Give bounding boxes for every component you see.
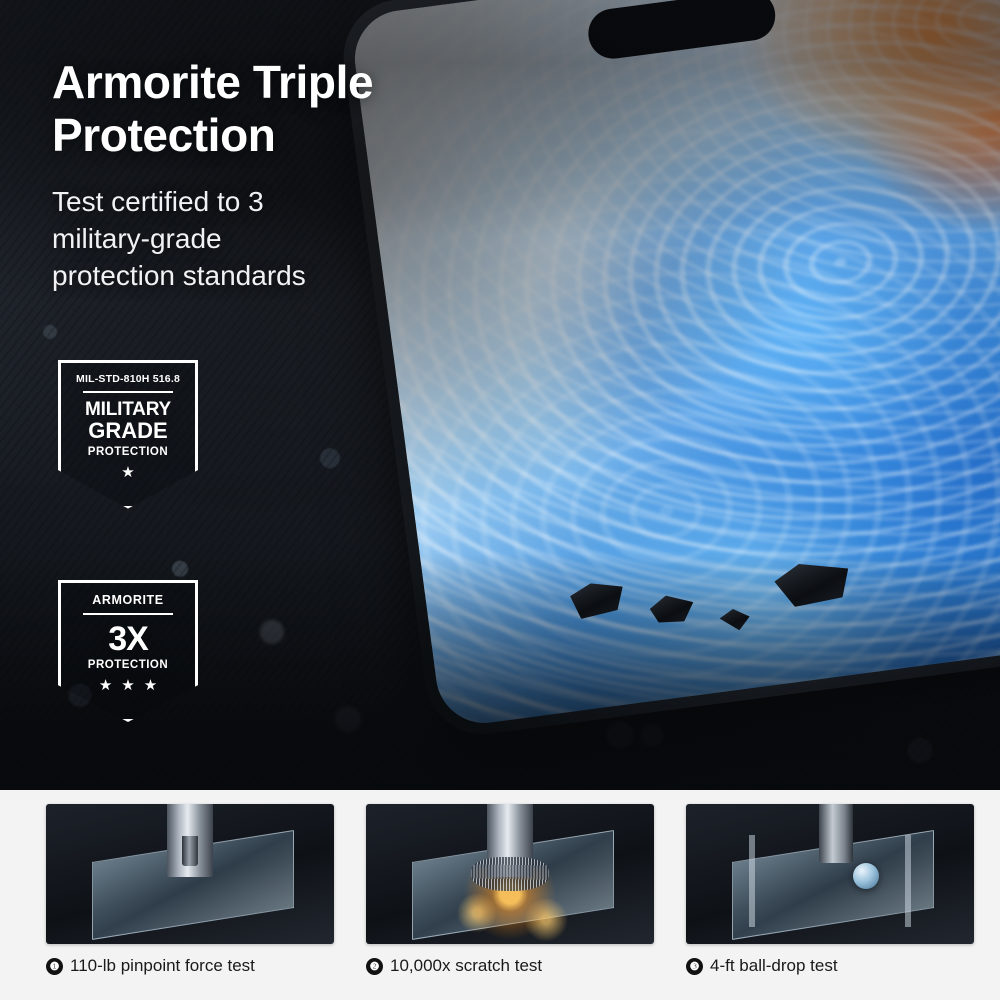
badge-star-row: ★ ★ ★	[69, 678, 187, 693]
hero-title: Armorite Triple Protection	[52, 56, 482, 163]
ball-drop-icon	[686, 804, 974, 944]
hero-subtitle-line-2: military-grade	[52, 220, 482, 257]
mil-line-1: MILITARY	[69, 400, 187, 420]
test-caption-text: 110-lb pinpoint force test	[70, 956, 255, 976]
star-icon: ★	[121, 465, 134, 480]
test-caption: ❷ 10,000x scratch test	[366, 956, 654, 976]
shield-icon: MIL-STD-810H 516.8 MILITARY GRADE PROTEC…	[58, 360, 198, 509]
product-feature-image: Armorite Triple Protection Test certifie…	[0, 0, 1000, 1000]
badge-star-row: ★	[69, 465, 187, 480]
mil-line-2: GRADE	[69, 420, 187, 443]
test-caption-text: 10,000x scratch test	[390, 956, 542, 976]
test-caption-text: 4-ft ball-drop test	[710, 956, 838, 976]
armorite-brand-text: ARMORITE	[69, 593, 187, 607]
armorite-label: PROTECTION	[69, 659, 187, 671]
test-card: ❸ 4-ft ball-drop test	[686, 804, 974, 976]
steel-ball	[853, 863, 879, 889]
badge-divider	[83, 391, 173, 393]
probe-tip	[182, 836, 198, 866]
test-caption: ❸ 4-ft ball-drop test	[686, 956, 974, 976]
mil-line-3: PROTECTION	[69, 446, 187, 458]
star-icon: ★	[144, 678, 157, 693]
hero-title-line-2: Protection	[52, 109, 482, 162]
armorite-multiplier: 3X	[69, 622, 187, 656]
shield-icon: ARMORITE 3X PROTECTION ★ ★ ★	[58, 580, 198, 722]
hero-subtitle-line-3: protection standards	[52, 257, 482, 294]
test-card-list: ❶ 110-lb pinpoint force test ❷ 10,000x s…	[46, 804, 974, 976]
military-grade-badge: MIL-STD-810H 516.8 MILITARY GRADE PROTEC…	[58, 360, 198, 509]
test-card: ❶ 110-lb pinpoint force test	[46, 804, 334, 976]
test-caption: ❶ 110-lb pinpoint force test	[46, 956, 334, 976]
hero-title-line-1: Armorite Triple	[52, 56, 482, 109]
test-strip: ❶ 110-lb pinpoint force test ❷ 10,000x s…	[0, 790, 1000, 1000]
probe-head	[167, 804, 213, 877]
test-card: ❷ 10,000x scratch test	[366, 804, 654, 976]
drop-tube	[819, 804, 853, 863]
hero-subtitle-line-1: Test certified to 3	[52, 183, 482, 220]
armorite-3x-badge: ARMORITE 3X PROTECTION ★ ★ ★	[58, 580, 198, 722]
test-number-badge: ❷	[366, 958, 383, 975]
badge-divider	[83, 613, 173, 615]
pinpoint-force-icon	[46, 804, 334, 944]
mil-standard-text: MIL-STD-810H 516.8	[69, 373, 187, 385]
scratch-brush-icon	[366, 804, 654, 944]
wire-brush	[471, 857, 549, 891]
hero-subtitle: Test certified to 3 military-grade prote…	[52, 183, 482, 295]
star-icon: ★	[121, 678, 134, 693]
star-icon: ★	[99, 678, 112, 693]
test-number-badge: ❶	[46, 958, 63, 975]
hero-copy: Armorite Triple Protection Test certifie…	[52, 56, 482, 294]
test-number-badge: ❸	[686, 958, 703, 975]
hero-section: Armorite Triple Protection Test certifie…	[0, 0, 1000, 790]
